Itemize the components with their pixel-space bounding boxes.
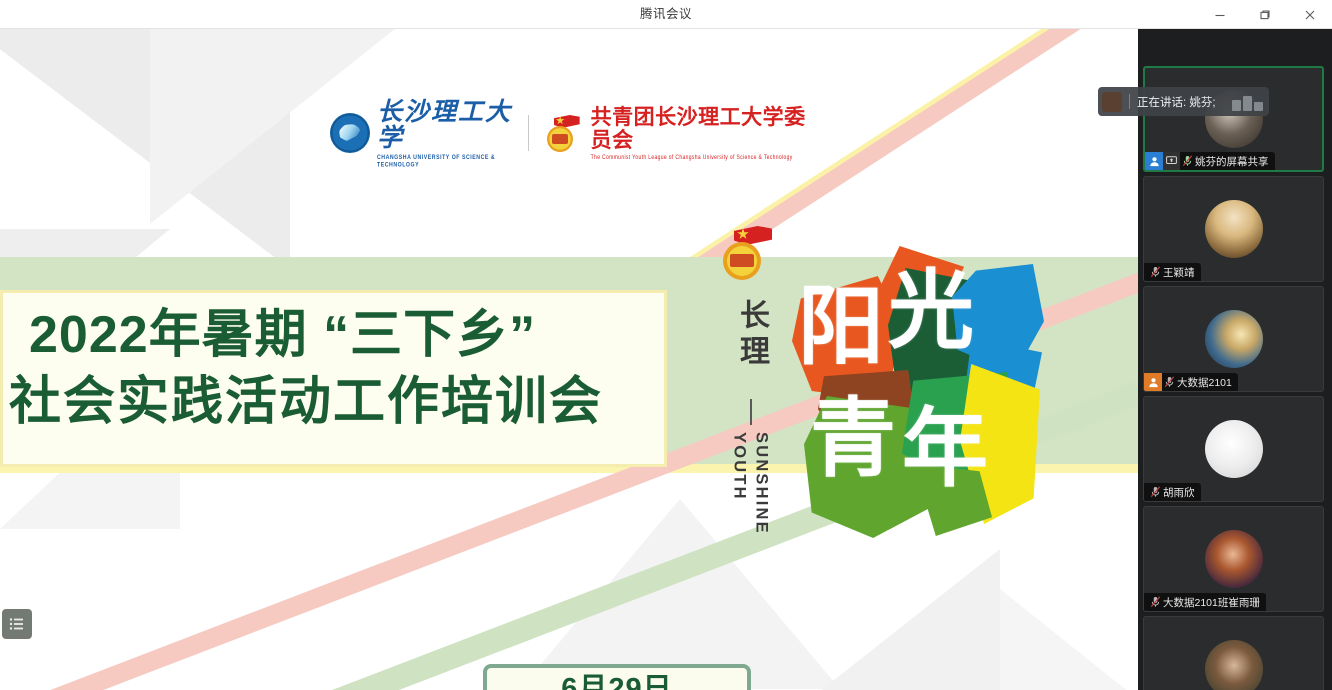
- csust-name-en: CHANGSHA UNIVERSITY OF SCIENCE & TECHNOL…: [377, 154, 513, 169]
- sunshine-youth-graphic: 长理 SUNSHINE YOUTH 阳: [712, 224, 997, 534]
- sunshine-youth-shards: 阳 光 青 年: [784, 246, 994, 516]
- sunshine-youth-characters: 阳 光 青 年: [784, 246, 994, 516]
- participant-name: 姚芬的屏幕共享: [1195, 154, 1269, 169]
- participant-name-bar: 姚芬的屏幕共享: [1145, 152, 1275, 170]
- toast-divider: [1129, 94, 1130, 109]
- slide-date-box: 6月29日: [483, 664, 751, 690]
- participant-tile[interactable]: 罗慧: [1143, 616, 1324, 690]
- layout-list-icon[interactable]: [2, 609, 32, 639]
- screen-share-icon: [1163, 152, 1180, 170]
- participant-name-bar: 王颖靖: [1144, 263, 1201, 281]
- window-title-bar: 腾讯会议: [0, 0, 1332, 29]
- cyl-logo: 共青团长沙理工大学委员会 The Communist Youth League …: [544, 106, 810, 160]
- participant-name-bar: 胡雨欣: [1144, 483, 1201, 501]
- slide-title-box: 2022年暑期 “三下乡” 社会实践活动工作培训会: [0, 290, 667, 467]
- graphic-vertical-cn: 长理: [736, 299, 766, 371]
- participant-name-bar: 大数据2101班崔雨珊: [1144, 593, 1266, 611]
- mic-muted-icon: [1148, 483, 1163, 501]
- graphic-char-2: 光: [888, 268, 974, 354]
- slide-title-line1: 2022年暑期 “三下乡”: [29, 309, 536, 361]
- avatar: [1205, 530, 1263, 588]
- participant-tile[interactable]: 王颖靖: [1143, 176, 1324, 282]
- participant-tile[interactable]: 大数据2101: [1143, 286, 1324, 392]
- meeting-window-body: 长沙理工大学 CHANGSHA UNIVERSITY OF SCIENCE & …: [0, 29, 1332, 690]
- participant-tile[interactable]: 姚芬的屏幕共享: [1143, 66, 1324, 172]
- csust-logo-text: 长沙理工大学 CHANGSHA UNIVERSITY OF SCIENCE & …: [377, 100, 513, 167]
- avatar: [1205, 420, 1263, 478]
- participant-name: 大数据2101: [1177, 375, 1232, 390]
- participant-name: 大数据2101班崔雨珊: [1163, 595, 1260, 610]
- avatar: [1205, 200, 1263, 258]
- active-speaker-avatar: [1102, 92, 1122, 112]
- mic-muted-icon: [1162, 373, 1177, 391]
- sunshine-youth-vertical-text: 长理 SUNSHINE YOUTH: [726, 299, 788, 524]
- close-button[interactable]: [1287, 0, 1332, 29]
- minimize-button[interactable]: [1197, 0, 1242, 29]
- active-speaker-toast: 正在讲话: 姚芬;: [1098, 87, 1269, 116]
- slide-date-text: 6月29日: [561, 665, 672, 690]
- graphic-char-4: 年: [902, 406, 988, 492]
- participant-icon: [1144, 373, 1162, 391]
- youth-league-emblem-icon: [544, 113, 584, 153]
- bg-triangle-6: [810, 549, 1000, 690]
- graphic-vertical-en: SUNSHINE YOUTH: [728, 432, 773, 535]
- sound-wave-icon: [1232, 93, 1263, 111]
- slide-title-line2: 社会实践活动工作培训会: [9, 376, 603, 428]
- logo-divider: [528, 115, 529, 151]
- mic-muted-icon: [1180, 152, 1195, 170]
- presentation-slide: 长沙理工大学 CHANGSHA UNIVERSITY OF SCIENCE & …: [0, 29, 1138, 690]
- graphic-char-1: 阳: [798, 284, 884, 370]
- active-speaker-label: 正在讲话: 姚芬;: [1137, 94, 1216, 110]
- host-icon: [1145, 152, 1163, 170]
- restore-button[interactable]: [1242, 0, 1287, 29]
- csust-name-cn: 长沙理工大学: [377, 100, 513, 153]
- participant-rail[interactable]: 姚芬的屏幕共享 王颖靖 大数据2101: [1138, 29, 1332, 690]
- mic-muted-icon: [1148, 263, 1163, 281]
- avatar: [1205, 310, 1263, 368]
- cyl-name-cn: 共青团长沙理工大学委员会: [591, 106, 810, 152]
- participant-name: 王颖靖: [1163, 265, 1195, 280]
- window-title: 腾讯会议: [0, 0, 1332, 29]
- cyl-logo-text: 共青团长沙理工大学委员会 The Communist Youth League …: [591, 106, 810, 160]
- avatar: [1205, 640, 1263, 690]
- shared-screen-stage[interactable]: 长沙理工大学 CHANGSHA UNIVERSITY OF SCIENCE & …: [0, 29, 1138, 690]
- participant-name-bar: 大数据2101: [1144, 373, 1238, 391]
- mic-muted-icon: [1148, 593, 1163, 611]
- csust-seal-icon: [330, 113, 370, 153]
- participant-tile[interactable]: 大数据2101班崔雨珊: [1143, 506, 1324, 612]
- participant-tile[interactable]: 胡雨欣: [1143, 396, 1324, 502]
- youth-league-emblem-icon-large: [720, 224, 778, 282]
- slide-logo-row: 长沙理工大学 CHANGSHA UNIVERSITY OF SCIENCE & …: [330, 107, 810, 159]
- csust-logo: 长沙理工大学 CHANGSHA UNIVERSITY OF SCIENCE & …: [330, 100, 513, 167]
- cyl-name-en: The Communist Youth League of Changsha U…: [591, 154, 810, 162]
- graphic-char-3: 青: [810, 396, 896, 482]
- graphic-vertical-rule: [750, 399, 752, 425]
- bg-triangle-7: [1000, 589, 1138, 690]
- participant-name: 胡雨欣: [1163, 485, 1195, 500]
